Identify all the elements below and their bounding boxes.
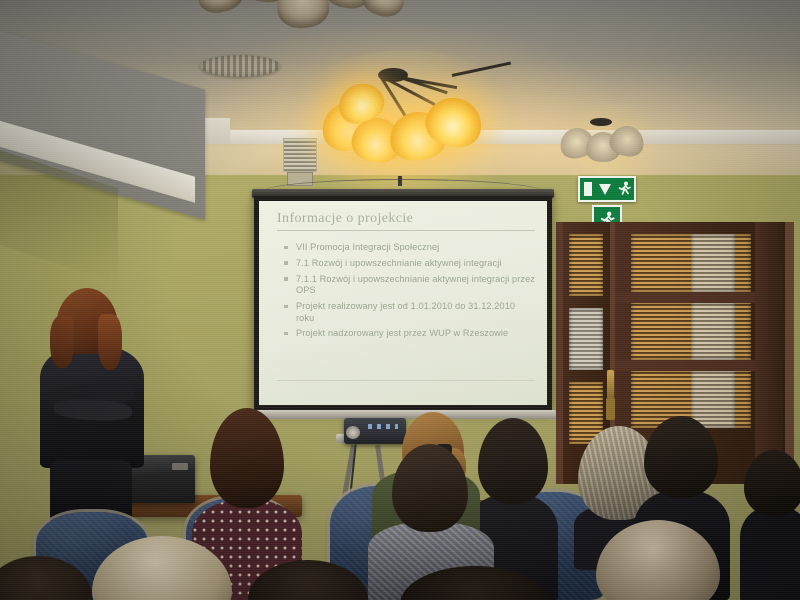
- exit-sign-arrow-down-icon: [578, 176, 636, 202]
- projection-screen: Informacje o projekcie VII Promocja Inte…: [254, 196, 552, 410]
- screen-surface: Informacje o projekcie VII Promocja Inte…: [259, 201, 547, 405]
- list-item: 7.1.1 Rozwój i upowszechnianie aktywnej …: [283, 274, 535, 297]
- door-stile: [755, 222, 783, 484]
- presenter-hair-side: [50, 316, 74, 368]
- projector-indicator-lights: [368, 424, 398, 429]
- audience-hair: [596, 520, 720, 600]
- audience-torso: [740, 506, 800, 600]
- door-glass-panel: [569, 234, 603, 296]
- list-item: Projekt nadzorowany jest przez WUP w Rze…: [283, 328, 535, 339]
- slide-bullet-list: VII Promocja Integracji Społecznej 7.1 R…: [283, 242, 535, 340]
- exit-door-glyph: [584, 182, 592, 196]
- bullet-text: Projekt nadzorowany jest przez WUP w Rze…: [296, 328, 508, 338]
- audience-hair: [400, 566, 550, 600]
- door-handle[interactable]: [607, 370, 614, 400]
- bullet-text: 7.1.1 Rozwój i upowszechnianie aktywnej …: [296, 274, 535, 295]
- door-glass-frost: [691, 234, 735, 292]
- audience-member-foreground: [596, 520, 720, 600]
- ceiling-vent-icon: [200, 55, 280, 77]
- running-figure-glyph: [618, 181, 631, 197]
- chandelier-hub: [590, 118, 612, 126]
- down-arrow-glyph: [599, 184, 611, 195]
- bullet-square-icon: [284, 332, 288, 336]
- bullet-square-icon: [284, 246, 288, 250]
- bullet-square-icon: [284, 305, 288, 309]
- bullet-square-icon: [284, 261, 288, 265]
- list-item: Projekt realizowany jest od 1.01.2010 do…: [283, 301, 535, 324]
- lamp-shade: [358, 0, 409, 21]
- list-item: 7.1 Rozwój i upowszechnianie aktywnej in…: [283, 258, 535, 269]
- audience-member-foreground: [92, 536, 232, 600]
- audience-member: [740, 450, 800, 600]
- audience-hair: [644, 416, 718, 498]
- bullet-text: 7.1 Rozwój i upowszechnianie aktywnej in…: [296, 258, 502, 268]
- presentation-slide: Informacje o projekcie VII Promocja Inte…: [277, 211, 535, 391]
- audience-hair: [392, 444, 468, 532]
- slide-title: Informacje o projekcie: [277, 211, 535, 231]
- audience-hair: [0, 556, 92, 600]
- door-lock-plate[interactable]: [606, 398, 615, 420]
- audience-hair: [248, 560, 368, 600]
- presenter-woman: [34, 288, 150, 518]
- audience-hair: [210, 408, 284, 508]
- presenter-hair-side: [98, 314, 122, 370]
- audience-hair: [744, 450, 800, 516]
- screen-hook: [398, 176, 402, 186]
- slide-bottom-rule: [277, 380, 535, 381]
- laptop-badge: [172, 463, 188, 470]
- chandelier-small: [560, 118, 640, 164]
- door-glass-frost: [691, 302, 735, 360]
- audience-member-foreground: [248, 560, 368, 600]
- projector-lens-icon: [346, 426, 360, 439]
- door-glass-panel: [569, 308, 603, 370]
- door-mullion: [615, 292, 765, 303]
- lamp-shade: [275, 0, 330, 30]
- door-mullion: [615, 360, 765, 371]
- bullet-text: VII Promocja Integracji Społecznej: [296, 242, 439, 252]
- audience-member-foreground: [0, 556, 92, 600]
- audience-member-foreground: [400, 566, 550, 600]
- chandelier-lit: [308, 62, 478, 167]
- list-item: VII Promocja Integracji Społecznej: [283, 242, 535, 253]
- bullet-text: Projekt realizowany jest od 1.01.2010 do…: [296, 301, 515, 322]
- audience-hair: [92, 536, 232, 600]
- chandelier-unlit: [205, 0, 405, 28]
- conference-room-photo: Informacje o projekcie VII Promocja Inte…: [0, 0, 800, 600]
- bullet-square-icon: [284, 277, 288, 281]
